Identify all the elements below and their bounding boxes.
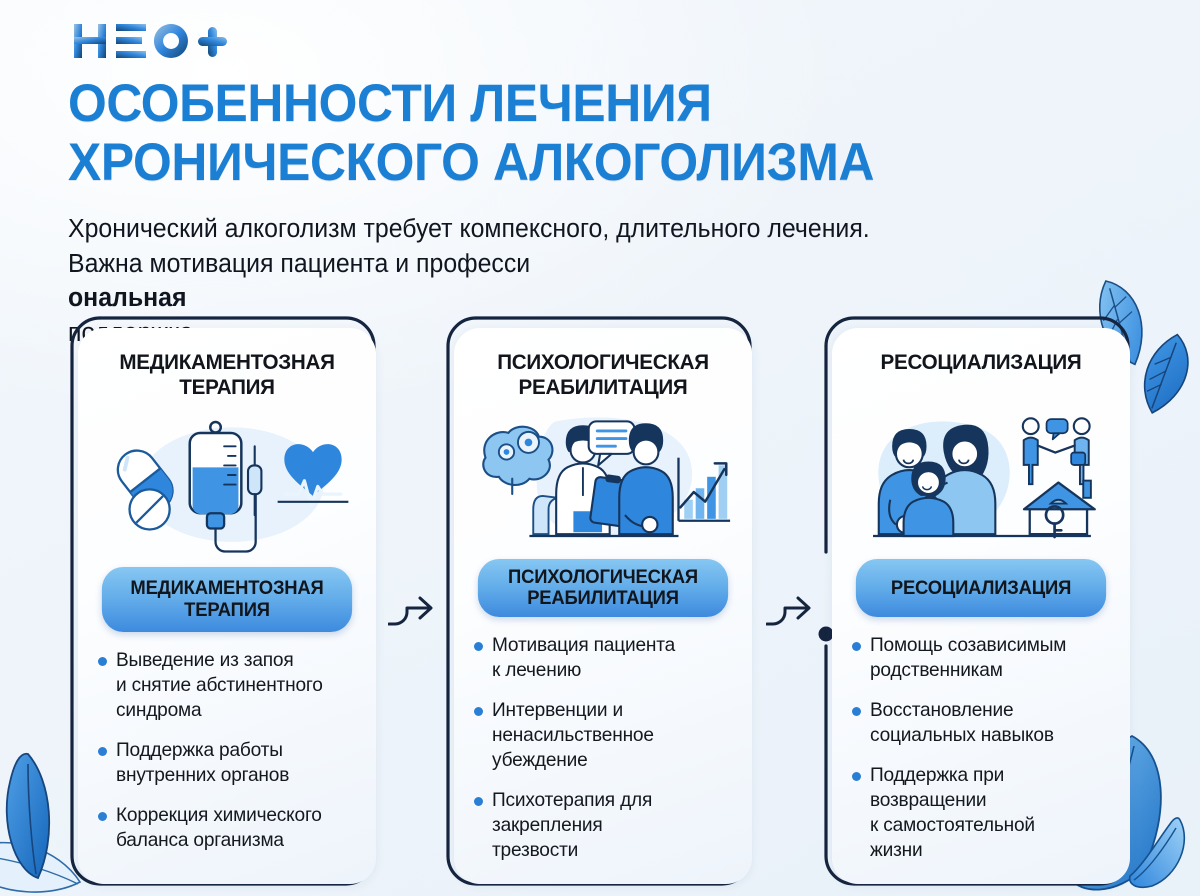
family-handshake-house-icon bbox=[852, 408, 1110, 551]
bullet-text: Мотивация пациента к лечению bbox=[492, 633, 675, 683]
bullet-dot-icon bbox=[98, 657, 107, 666]
card-resocialization[interactable]: РЕСОЦИАЛИЗАЦИЯ bbox=[818, 316, 1130, 886]
page-title: ОСОБЕННОСТИ ЛЕЧЕНИЯ ХРОНИЧЕСКОГО АЛКОГОЛ… bbox=[68, 74, 1083, 193]
therapy-session-icon bbox=[474, 408, 732, 551]
bullet-text: Поддержка работы внутренних органов bbox=[116, 738, 289, 788]
bullet-text: Восстановление социальных навыков bbox=[870, 698, 1054, 748]
bullet-dot-icon bbox=[852, 642, 861, 651]
bullet-dot-icon bbox=[98, 747, 107, 756]
list-item: Коррекция химического баланса организма bbox=[98, 803, 356, 853]
cards-row: МЕДИКАМЕНТОЗНАЯ ТЕРАПИЯ bbox=[0, 316, 1200, 896]
list-item: Восстановление социальных навыков bbox=[852, 698, 1110, 748]
card-bullets: Помощь созависимым родственникам Восстан… bbox=[852, 633, 1110, 878]
list-item: Мотивация пациента к лечению bbox=[474, 633, 732, 683]
list-item: Психотерапия для закрепления трезвости bbox=[474, 788, 732, 863]
card-medication-therapy[interactable]: МЕДИКАМЕНТОЗНАЯ ТЕРАПИЯ bbox=[64, 316, 376, 886]
list-item: Помощь созависимым родственникам bbox=[852, 633, 1110, 683]
bullet-text: Психотерапия для закрепления трезвости bbox=[492, 788, 652, 863]
card-panel: РЕСОЦИАЛИЗАЦИЯ bbox=[832, 328, 1130, 884]
bullet-text: Помощь созависимым родственникам bbox=[870, 633, 1066, 683]
connector-arrow-1 bbox=[388, 578, 434, 630]
bullet-text: Выведение из запоя и снятие абстинентног… bbox=[116, 648, 323, 723]
connector-arrow-2 bbox=[766, 578, 812, 630]
card-badge[interactable]: ПСИХОЛОГИЧЕСКАЯ РЕАБИЛИТАЦИЯ bbox=[478, 559, 728, 617]
page-title-line-1: ОСОБЕННОСТИ ЛЕЧЕНИЯ bbox=[68, 74, 1083, 133]
bullet-dot-icon bbox=[98, 812, 107, 821]
list-item: Поддержка работы внутренних органов bbox=[98, 738, 356, 788]
bullet-dot-icon bbox=[852, 772, 861, 781]
card-panel: ПСИХОЛОГИЧЕСКАЯ РЕАБИЛИТАЦИЯ bbox=[454, 328, 752, 884]
bullet-dot-icon bbox=[474, 707, 483, 716]
bullet-dot-icon bbox=[474, 797, 483, 806]
card-heading: МЕДИКАМЕНТОЗНАЯ ТЕРАПИЯ bbox=[103, 350, 351, 402]
iv-drip-pills-heart-icon bbox=[98, 408, 356, 559]
bullet-dot-icon bbox=[474, 642, 483, 651]
card-bullets: Мотивация пациента к лечению Интервенции… bbox=[474, 633, 732, 878]
list-item: Интервенции и ненасильственное убеждение bbox=[474, 698, 732, 773]
card-badge[interactable]: МЕДИКАМЕНТОЗНАЯ ТЕРАПИЯ bbox=[102, 567, 352, 632]
subtitle-text-bold: ональная bbox=[68, 284, 186, 312]
subtitle-text-a: Важна мотивация пациента и професси bbox=[68, 247, 1102, 282]
card-badge[interactable]: РЕСОЦИАЛИЗАЦИЯ bbox=[856, 559, 1106, 617]
page-subtitle-line-1: Хронический алкоголизм требует компексно… bbox=[68, 212, 1102, 247]
card-heading: РЕСОЦИАЛИЗАЦИЯ bbox=[857, 350, 1105, 402]
list-item: Выведение из запоя и снятие абстинентног… bbox=[98, 648, 356, 723]
bullet-dot-icon bbox=[852, 707, 861, 716]
bullet-text: Интервенции и ненасильственное убеждение bbox=[492, 698, 654, 773]
page-title-line-2: ХРОНИЧЕСКОГО АЛКОГОЛИЗМА bbox=[68, 133, 1083, 192]
card-bullets: Выведение из запоя и снятие абстинентног… bbox=[98, 648, 356, 868]
card-panel: МЕДИКАМЕНТОЗНАЯ ТЕРАПИЯ bbox=[78, 328, 376, 884]
bullet-text: Поддержка при возвращении к самостоятель… bbox=[870, 763, 1035, 863]
bullet-text: Коррекция химического баланса организма bbox=[116, 803, 322, 853]
brand-logo[interactable] bbox=[68, 18, 238, 64]
card-psychological-rehabilitation[interactable]: ПСИХОЛОГИЧЕСКАЯ РЕАБИЛИТАЦИЯ bbox=[440, 316, 752, 886]
card-heading: ПСИХОЛОГИЧЕСКАЯ РЕАБИЛИТАЦИЯ bbox=[479, 350, 727, 402]
list-item: Поддержка при возвращении к самостоятель… bbox=[852, 763, 1110, 863]
